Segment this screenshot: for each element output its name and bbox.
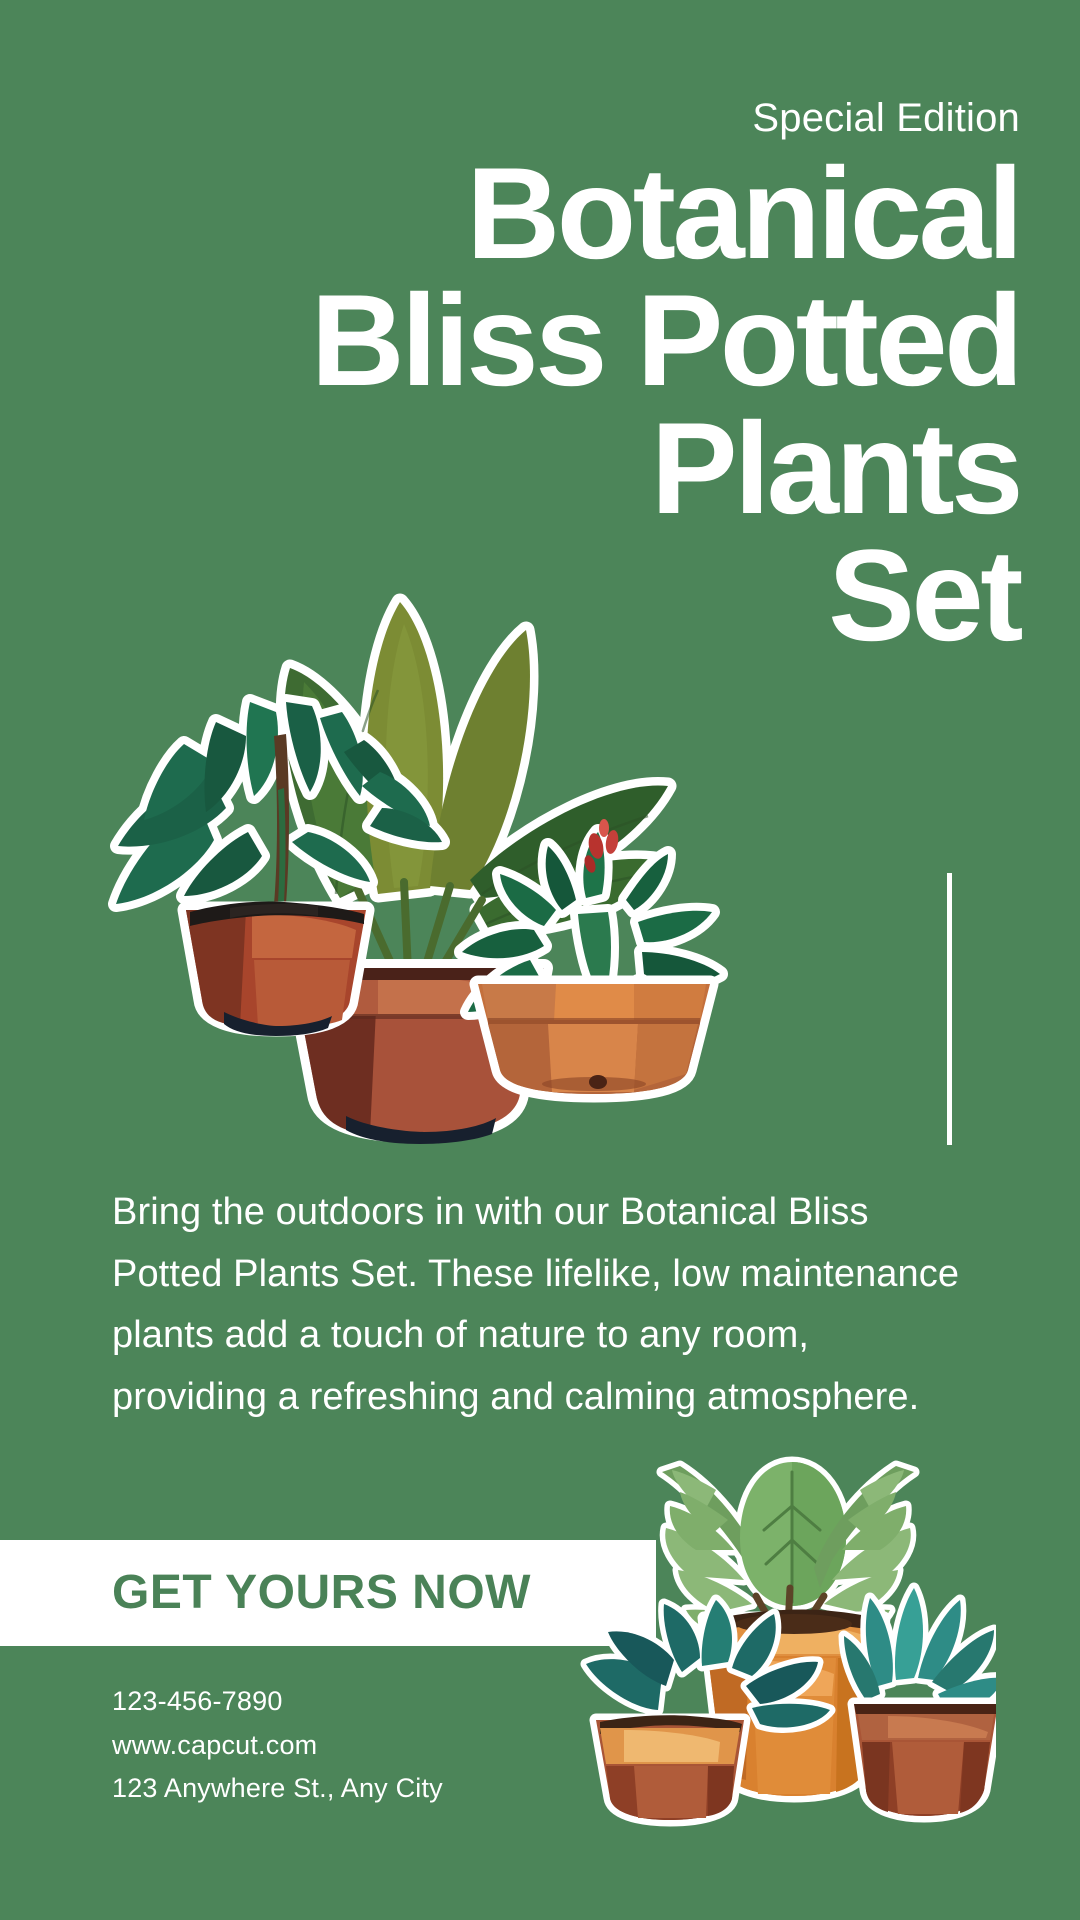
cta-label[interactable]: GET YOURS NOW [112,1565,531,1620]
bottom-right-plant-cluster [566,1428,996,1828]
contact-phone[interactable]: 123-456-7890 [112,1680,443,1724]
agave-in-brown-pot [844,1588,996,1816]
three-potted-plants-illustration [78,490,768,1150]
headline-line-1: Botanical [60,150,1020,277]
poster-canvas: Special Edition Botanical Bliss Potted P… [0,0,1080,1920]
description-paragraph: Bring the outdoors in with our Botanical… [112,1182,972,1428]
contact-website[interactable]: www.capcut.com [112,1724,443,1768]
vertical-rule-divider [947,873,952,1145]
contact-address: 123 Anywhere St., Any City [112,1767,443,1811]
headline-line-2: Bliss Potted [60,277,1020,404]
contact-info: 123-456-7890 www.capcut.com 123 Anywhere… [112,1680,443,1811]
eyebrow-label: Special Edition [752,96,1020,141]
